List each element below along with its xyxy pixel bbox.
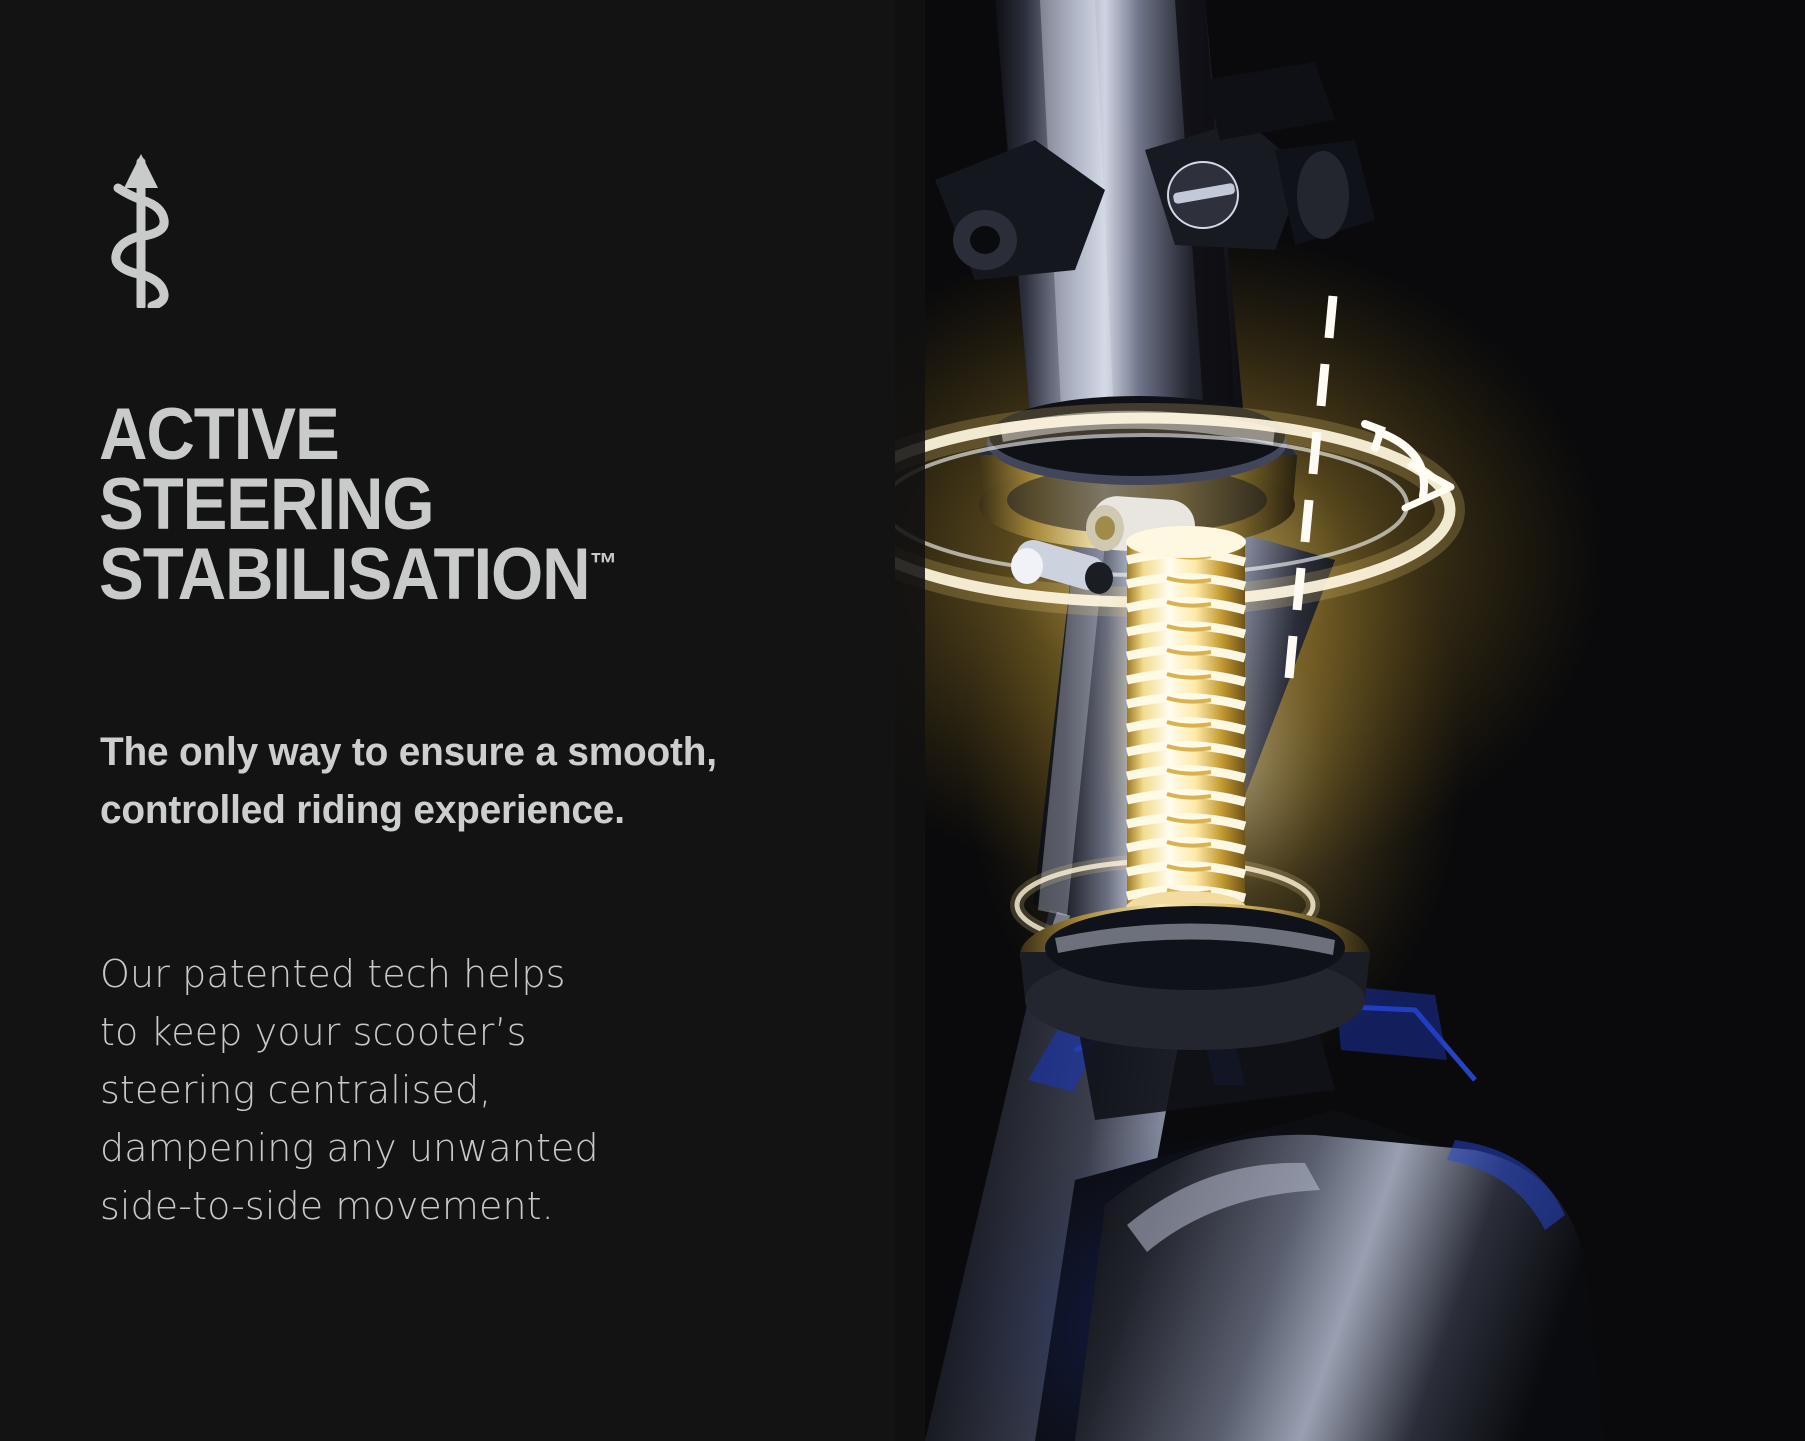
subheading-line-1: The only way to ensure a: [100, 730, 557, 774]
damper-spring: [1093, 520, 1261, 925]
trademark-symbol: ™: [590, 548, 618, 581]
body-line-2: to keep your scooter’s: [100, 1003, 740, 1061]
body-line-5: side-to-side movement.: [100, 1177, 740, 1235]
subheading: The only way to ensure a smooth, control…: [100, 723, 740, 839]
text-panel: ACTIVE STEERING STABILISATION™ The only …: [0, 0, 895, 1441]
body-paragraph: Our patented tech helps to keep your sco…: [100, 945, 740, 1235]
body-line-4: dampening any unwanted: [100, 1119, 740, 1177]
page-title: ACTIVE STEERING STABILISATION™: [99, 400, 859, 610]
body-line-3: steering centralised,: [100, 1061, 740, 1119]
lower-bearing-cup: [1020, 903, 1370, 1050]
title-line-3: STABILISATION™: [99, 540, 798, 610]
product-image: [775, 0, 1805, 1441]
subheading-line-3: riding experience.: [296, 788, 625, 832]
body-line-1: Our patented tech helps: [100, 945, 740, 1003]
title-line-1: ACTIVE: [99, 400, 798, 470]
title-line-2: STEERING: [99, 470, 798, 540]
arrow-head-icon: [124, 154, 158, 188]
title-line-3-text: STABILISATION: [99, 534, 590, 615]
feature-panel: ACTIVE STEERING STABILISATION™ The only …: [0, 0, 1805, 1441]
steering-stabilisation-icon: [96, 148, 186, 308]
